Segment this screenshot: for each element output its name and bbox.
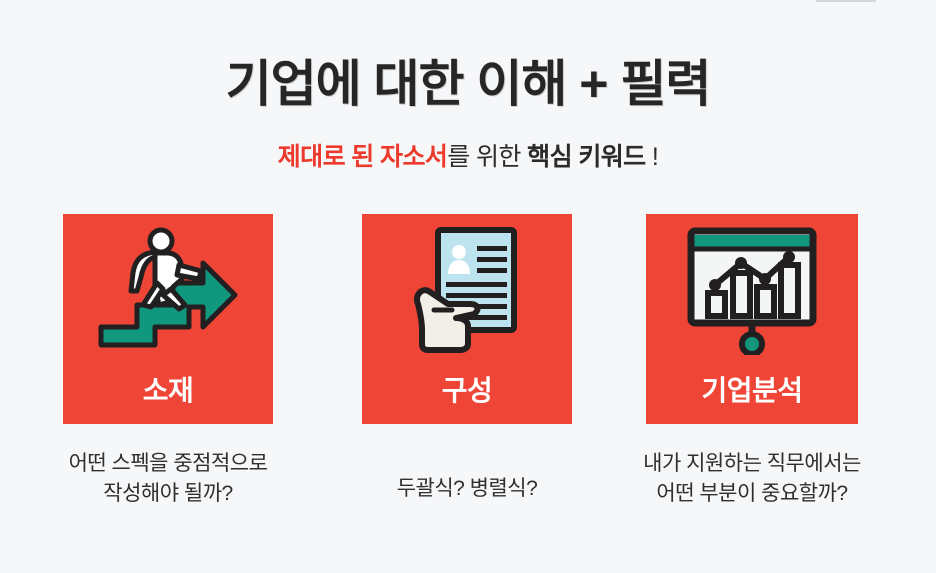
page-subtitle: 제대로 된 자소서를 위한 핵심 키워드 !: [0, 140, 936, 174]
caption-line: 내가 지원하는 직무에서는: [597, 449, 907, 479]
card-label-gieopbunseok: 기업분석: [646, 374, 858, 408]
caption-line: 어떤 스펙을 중점적으로: [18, 449, 318, 479]
card-guseong[interactable]: 구성: [362, 214, 572, 424]
card-label-guseong: 구성: [362, 374, 572, 408]
page-title: 기업에 대한 이해 + 필력: [0, 55, 936, 113]
hand-holding-resume-icon: [362, 226, 572, 356]
presentation-chart-board-icon: [646, 226, 858, 356]
subtitle-highlight: 제대로 된 자소서: [278, 143, 448, 171]
card-label-sojae: 소재: [63, 374, 273, 408]
caption-line: 작성해야 될까?: [18, 479, 318, 509]
person-climbing-stairs-icon: [63, 226, 273, 356]
top-edge-artifact-line: [816, 0, 876, 2]
caption-line: 두괄식? 병렬식?: [347, 474, 587, 504]
caption-guseong: 두괄식? 병렬식?: [347, 474, 587, 504]
subtitle-strong: 핵심 키워드: [527, 143, 645, 171]
caption-gieopbunseok: 내가 지원하는 직무에서는 어떤 부분이 중요할까?: [597, 449, 907, 509]
card-sojae[interactable]: 소재: [63, 214, 273, 424]
card-gieopbunseok[interactable]: 기업분석: [646, 214, 858, 424]
poster-canvas: 기업에 대한 이해 + 필력 제대로 된 자소서를 위한 핵심 키워드 ! 소재: [0, 0, 936, 573]
caption-sojae: 어떤 스펙을 중점적으로 작성해야 될까?: [18, 449, 318, 509]
caption-line: 어떤 부분이 중요할까?: [597, 479, 907, 509]
subtitle-tail: !: [646, 143, 659, 171]
subtitle-middle: 를 위한: [447, 143, 527, 171]
